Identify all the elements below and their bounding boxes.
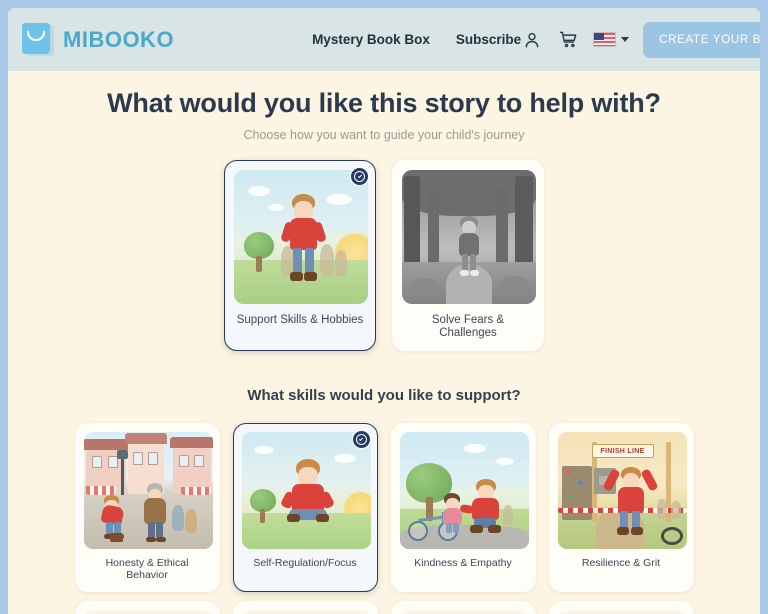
skill-card-label: Kindness & Empathy: [400, 549, 527, 580]
page-subtitle: Choose how you want to guide your child'…: [8, 128, 760, 142]
goal-card-support-skills[interactable]: Support Skills & Hobbies: [224, 160, 376, 351]
skill-card-label: Honesty & Ethical Behavior: [84, 549, 211, 591]
cart-icon[interactable]: [557, 29, 579, 51]
skill-card-kindness[interactable]: Kindness & Empathy: [391, 423, 536, 592]
selected-check-icon: [351, 168, 368, 185]
create-your-book-button[interactable]: CREATE YOUR BOOK: [643, 22, 760, 58]
book-logo-icon: [22, 23, 54, 57]
language-selector[interactable]: [593, 32, 629, 47]
skill-card-resilience[interactable]: FINISH LINE: [549, 423, 694, 592]
skill-thumbnail-resilience: FINISH LINE: [558, 432, 687, 549]
brand-logo[interactable]: MIBOOKO: [22, 23, 174, 57]
finish-line-sign: FINISH LINE: [592, 444, 654, 458]
goal-thumbnail-solve-fears: [402, 170, 536, 304]
skill-thumbnail-partial: [558, 610, 687, 614]
skill-card-partial[interactable]: [75, 601, 220, 614]
browser-frame: MIBOOKO Mystery Book Box Subscribe: [0, 0, 768, 614]
goal-card-label: Support Skills & Hobbies: [234, 304, 366, 338]
skill-thumbnail-partial: [400, 610, 529, 614]
skill-card-partial[interactable]: [549, 601, 694, 614]
us-flag-icon: [593, 32, 616, 47]
page-viewport: MIBOOKO Mystery Book Box Subscribe: [8, 8, 760, 614]
skill-card-grid-next-row: [8, 601, 760, 614]
skills-section-title: What skills would you like to support?: [8, 387, 760, 404]
page-title: What would you like this story to help w…: [8, 88, 760, 119]
skill-thumbnail-partial: [242, 610, 371, 614]
skill-thumbnail-self-regulation: [242, 432, 371, 549]
user-icon[interactable]: [521, 29, 543, 51]
site-header: MIBOOKO Mystery Book Box Subscribe: [8, 8, 760, 71]
skill-card-label: Resilience & Grit: [558, 549, 685, 580]
goal-card-solve-fears[interactable]: Solve Fears & Challenges: [392, 160, 544, 351]
skill-card-label: Self-Regulation/Focus: [242, 549, 369, 580]
header-actions: CREATE YOUR BOOK: [521, 22, 760, 58]
skill-thumbnail-kindness: [400, 432, 529, 549]
goal-card-label: Solve Fears & Challenges: [402, 304, 534, 350]
selected-check-icon: [353, 431, 370, 448]
skill-card-self-regulation[interactable]: Self-Regulation/Focus: [233, 423, 378, 592]
skill-thumbnail-honesty: [84, 432, 213, 549]
nav-item-mystery-book-box[interactable]: Mystery Book Box: [312, 32, 430, 47]
main-content: What would you like this story to help w…: [8, 71, 760, 614]
skill-thumbnail-partial: [84, 610, 213, 614]
main-nav: Mystery Book Box Subscribe: [312, 32, 521, 47]
skill-card-grid: Honesty & Ethical Behavior: [8, 423, 760, 592]
brand-name: MIBOOKO: [63, 27, 174, 53]
skill-card-honesty[interactable]: Honesty & Ethical Behavior: [75, 423, 220, 592]
chevron-down-icon: [621, 37, 629, 42]
goal-thumbnail-support-skills: [234, 170, 368, 304]
skill-card-partial[interactable]: [391, 601, 536, 614]
goal-card-row: Support Skills & Hobbies: [8, 160, 760, 351]
nav-item-subscribe[interactable]: Subscribe: [456, 32, 521, 47]
skill-card-partial[interactable]: [233, 601, 378, 614]
